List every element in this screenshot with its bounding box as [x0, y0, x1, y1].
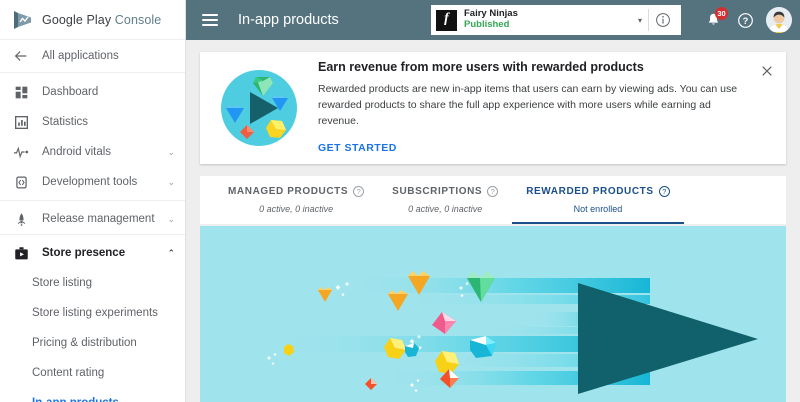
- sidebar-item-all-applications[interactable]: All applications: [0, 40, 185, 72]
- header-actions: 30 ?: [702, 0, 792, 40]
- store-presence-icon: [12, 244, 30, 262]
- sidebar-divider: [0, 234, 185, 235]
- svg-text:?: ?: [742, 15, 748, 25]
- top-header-bar: In-app products f Fairy Ninjas Published…: [186, 0, 800, 40]
- sidebar-item-store-presence[interactable]: Store presence ⌃: [0, 238, 185, 268]
- sidebar-divider: [0, 72, 185, 73]
- promo-description: Rewarded products are new in-app items t…: [318, 82, 748, 129]
- play-console-logo-icon: [12, 10, 34, 30]
- promo-card: Earn revenue from more users with reward…: [200, 52, 786, 164]
- app-icon-initial: f: [444, 12, 449, 26]
- tab-top: MANAGED PRODUCTS ?: [228, 186, 364, 197]
- tab-subtext: Not enrolled: [526, 204, 669, 214]
- tab-top: REWARDED PRODUCTS ?: [526, 186, 669, 197]
- sidebar-item-content-rating[interactable]: Content rating: [0, 358, 185, 388]
- app-root: Google Play Console All applications Das…: [0, 0, 800, 402]
- main-content: Earn revenue from more users with reward…: [186, 40, 800, 402]
- sidebar-item-statistics[interactable]: Statistics: [0, 107, 185, 137]
- chevron-down-icon: ⌄: [167, 215, 175, 224]
- promo-body: Earn revenue from more users with reward…: [318, 60, 782, 155]
- sidebar-subitem-label: Content rating: [32, 367, 104, 379]
- dev-tools-icon: [12, 173, 30, 191]
- tab-subtext: 0 active, 0 inactive: [392, 204, 498, 214]
- sidebar-item-label: Android vitals: [42, 146, 111, 158]
- tab-rewarded-products[interactable]: REWARDED PRODUCTS ? Not enrolled: [512, 176, 683, 224]
- sidebar-item-label: Release management: [42, 213, 155, 225]
- sidebar-item-label: Store presence: [42, 247, 125, 259]
- tab-top: SUBSCRIPTIONS ?: [392, 186, 498, 197]
- product-tabs: MANAGED PRODUCTS ? 0 active, 0 inactive …: [200, 176, 786, 224]
- page-title: In-app products: [238, 12, 339, 28]
- notification-count-badge: 30: [715, 7, 728, 20]
- sidebar-subitem-label: Pricing & distribution: [32, 337, 137, 349]
- chevron-down-icon[interactable]: ▾: [638, 16, 648, 25]
- sidebar-item-android-vitals[interactable]: Android vitals ⌄: [0, 137, 185, 167]
- help-icon[interactable]: ?: [734, 9, 756, 31]
- brand-header[interactable]: Google Play Console: [0, 0, 185, 40]
- sidebar-item-label: Dashboard: [42, 86, 98, 98]
- sidebar-item-in-app-products[interactable]: In-app products: [0, 388, 185, 402]
- app-status-badge: Published: [464, 20, 518, 31]
- sidebar-subitem-label: In-app products: [32, 397, 119, 402]
- get-started-button[interactable]: GET STARTED: [318, 142, 397, 154]
- active-tab-underline: [512, 222, 683, 224]
- app-icon: f: [436, 10, 457, 31]
- chevron-down-icon: ⌄: [167, 148, 175, 157]
- tab-label: REWARDED PRODUCTS: [526, 186, 653, 197]
- sidebar: Google Play Console All applications Das…: [0, 0, 186, 402]
- chevron-down-icon: ⌄: [167, 178, 175, 187]
- help-icon[interactable]: ?: [353, 186, 364, 197]
- sidebar-item-label: All applications: [42, 50, 119, 62]
- sidebar-item-store-listing[interactable]: Store listing: [0, 268, 185, 298]
- avatar[interactable]: [766, 7, 792, 33]
- hamburger-menu-icon[interactable]: [202, 14, 218, 26]
- close-icon[interactable]: [758, 62, 776, 80]
- pulse-icon: [12, 143, 30, 161]
- tab-managed-products[interactable]: MANAGED PRODUCTS ? 0 active, 0 inactive: [214, 176, 378, 224]
- brand-google-play: Google Play: [42, 13, 111, 27]
- bell-icon[interactable]: 30: [702, 9, 724, 31]
- help-icon[interactable]: ?: [659, 186, 670, 197]
- arrow-left-icon: [12, 47, 30, 65]
- sidebar-item-release-management[interactable]: Release management ⌄: [0, 204, 185, 234]
- tab-subscriptions[interactable]: SUBSCRIPTIONS ? 0 active, 0 inactive: [378, 176, 512, 224]
- help-icon[interactable]: ?: [487, 186, 498, 197]
- info-icon[interactable]: [649, 5, 677, 35]
- tab-label: MANAGED PRODUCTS: [228, 186, 348, 197]
- sidebar-item-development-tools[interactable]: Development tools ⌄: [0, 167, 185, 197]
- sidebar-subitem-label: Store listing: [32, 277, 92, 289]
- app-meta: Fairy Ninjas Published: [464, 9, 518, 31]
- sidebar-subitem-label: Store listing experiments: [32, 307, 158, 319]
- tab-label: SUBSCRIPTIONS: [392, 186, 482, 197]
- rocket-icon: [12, 210, 30, 228]
- chevron-up-icon: ⌃: [167, 249, 175, 258]
- sidebar-item-dashboard[interactable]: Dashboard: [0, 77, 185, 107]
- dashboard-icon: [12, 83, 30, 101]
- brand-label: Google Play Console: [42, 13, 161, 27]
- sidebar-item-label: Statistics: [42, 116, 88, 128]
- gems-streaming-into-play-button-illustration: [200, 226, 786, 402]
- promo-title: Earn revenue from more users with reward…: [318, 60, 748, 74]
- sidebar-divider: [0, 200, 185, 201]
- app-selector[interactable]: f Fairy Ninjas Published ▾: [431, 5, 681, 35]
- tab-subtext: 0 active, 0 inactive: [228, 204, 364, 214]
- bar-chart-icon: [12, 113, 30, 131]
- sidebar-item-store-listing-experiments[interactable]: Store listing experiments: [0, 298, 185, 328]
- sidebar-item-pricing-distribution[interactable]: Pricing & distribution: [0, 328, 185, 358]
- rewarded-products-circle-illustration: [216, 65, 302, 151]
- brand-console: Console: [115, 13, 162, 27]
- sidebar-item-label: Development tools: [42, 176, 137, 188]
